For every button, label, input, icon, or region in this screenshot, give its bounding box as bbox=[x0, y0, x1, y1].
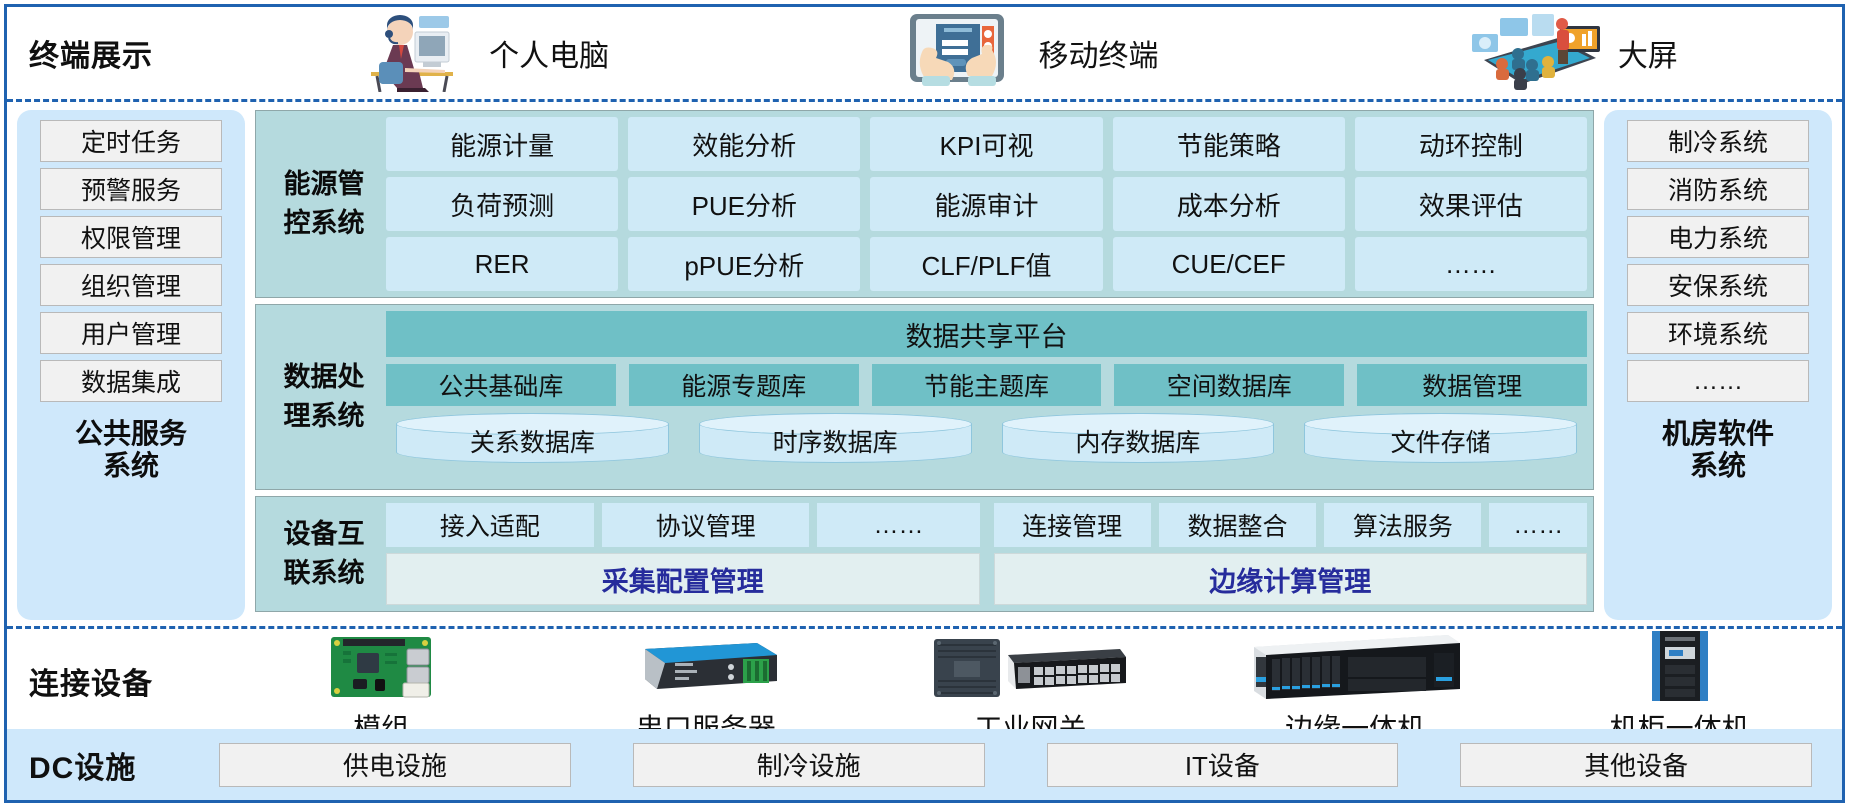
equipment-room-software-system-panel: 制冷系统 消防系统 电力系统 安保系统 环境系统 …… 机房软件 系统 bbox=[1604, 110, 1832, 620]
energy-cell-efficiency-analysis[interactable]: 效能分析 bbox=[628, 117, 860, 171]
title-line-1: 能源管 bbox=[284, 165, 365, 204]
acquisition-chips: 接入适配 协议管理 …… bbox=[386, 503, 980, 547]
serial-server-icon bbox=[631, 633, 781, 706]
tablet-hands-icon bbox=[892, 10, 1022, 97]
terminal-display-row: 终端展示 bbox=[7, 7, 1842, 99]
database-relational[interactable]: 关系数据库 bbox=[396, 413, 669, 463]
dc-chip-cooling[interactable]: 制冷设施 bbox=[633, 743, 985, 787]
title-line-2: 理系统 bbox=[284, 397, 365, 436]
terminal-items: 个人电脑 bbox=[209, 10, 1842, 97]
title-line-2: 系统 bbox=[75, 450, 187, 482]
terminal-label-personal-computer: 个人电脑 bbox=[489, 31, 609, 75]
energy-cell-kpi-visualization[interactable]: KPI可视 bbox=[870, 117, 1102, 171]
sidebar-label: 组织管理 bbox=[81, 267, 181, 303]
edge-chips: 连接管理 数据整合 算法服务 …… bbox=[994, 503, 1588, 547]
device-chip-access-adaptation[interactable]: 接入适配 bbox=[386, 503, 594, 547]
title-line-1: 公共服务 bbox=[75, 418, 187, 450]
energy-cell-rer[interactable]: RER bbox=[386, 237, 618, 291]
sidebar-item-environment-system[interactable]: 环境系统 bbox=[1627, 312, 1809, 354]
energy-cell-energy-metering[interactable]: 能源计量 bbox=[386, 117, 618, 171]
sidebar-label: 用户管理 bbox=[81, 315, 181, 351]
database-label: 内存数据库 bbox=[1075, 417, 1200, 459]
sidebar-item-fire-system[interactable]: 消防系统 bbox=[1627, 168, 1809, 210]
dc-facility-items: 供电设施 制冷设施 IT设备 其他设备 bbox=[219, 743, 1842, 787]
data-store-energy-topic[interactable]: 能源专题库 bbox=[629, 364, 859, 406]
diagram-frame: 终端展示 bbox=[4, 4, 1845, 803]
row-label-terminal: 终端展示 bbox=[29, 31, 209, 75]
data-processing-body: 数据共享平台 公共基础库 能源专题库 节能主题库 空间数据库 数据管理 关系数据… bbox=[386, 311, 1587, 483]
title-line-1: 数据处 bbox=[284, 358, 365, 397]
energy-cell-cue-cef[interactable]: CUE/CEF bbox=[1113, 237, 1345, 291]
device-chip-data-integration[interactable]: 数据整合 bbox=[1159, 503, 1316, 547]
sidebar-label: 权限管理 bbox=[81, 219, 181, 255]
energy-cell-cost-analysis[interactable]: 成本分析 bbox=[1113, 177, 1345, 231]
terminal-item-personal-computer[interactable]: 个人电脑 bbox=[209, 10, 753, 97]
database-label: 时序数据库 bbox=[773, 417, 898, 459]
data-processing-system-block: 数据处 理系统 数据共享平台 公共基础库 能源专题库 节能主题库 空间数据库 数… bbox=[255, 304, 1594, 490]
energy-management-system-title: 能源管 控系统 bbox=[262, 117, 386, 291]
energy-cell-environment-control[interactable]: 动环控制 bbox=[1355, 117, 1587, 171]
terminal-item-large-screen[interactable]: 大屏 bbox=[1298, 10, 1842, 97]
title-line-2: 联系统 bbox=[284, 554, 365, 593]
public-service-system-title: 公共服务 系统 bbox=[75, 418, 187, 482]
energy-row-3: RER pPUE分析 CLF/PLF值 CUE/CEF …… bbox=[386, 237, 1587, 291]
sidebar-label: 安保系统 bbox=[1668, 267, 1768, 303]
energy-row-1: 能源计量 效能分析 KPI可视 节能策略 动环控制 bbox=[386, 117, 1587, 171]
sidebar-item-alert-service[interactable]: 预警服务 bbox=[40, 168, 222, 210]
device-interconnection-system-block: 设备互 联系统 接入适配 协议管理 …… 采集配置管理 bbox=[255, 496, 1594, 612]
data-store-management[interactable]: 数据管理 bbox=[1357, 364, 1587, 406]
sidebar-label: …… bbox=[1693, 367, 1743, 396]
database-row: 关系数据库 时序数据库 内存数据库 文件存储 bbox=[386, 413, 1587, 463]
energy-cell-more[interactable]: …… bbox=[1355, 237, 1587, 291]
title-line-1: 机房软件 bbox=[1662, 418, 1774, 450]
title-line-1: 设备互 bbox=[284, 515, 365, 554]
sidebar-label: 数据集成 bbox=[81, 363, 181, 399]
database-inmemory[interactable]: 内存数据库 bbox=[1002, 413, 1275, 463]
sidebar-label: 预警服务 bbox=[81, 171, 181, 207]
energy-cell-energy-saving-strategy[interactable]: 节能策略 bbox=[1113, 117, 1345, 171]
circuit-board-icon bbox=[329, 633, 433, 706]
database-timeseries[interactable]: 时序数据库 bbox=[699, 413, 972, 463]
sidebar-item-cooling-system[interactable]: 制冷系统 bbox=[1627, 120, 1809, 162]
desktop-user-icon bbox=[353, 10, 473, 97]
sidebar-label: 消防系统 bbox=[1668, 171, 1768, 207]
data-sharing-platform-banner[interactable]: 数据共享平台 bbox=[386, 311, 1587, 357]
equipment-room-software-system-title: 机房软件 系统 bbox=[1662, 418, 1774, 482]
device-chip-connection-management[interactable]: 连接管理 bbox=[994, 503, 1151, 547]
sidebar-item-organization-management[interactable]: 组织管理 bbox=[40, 264, 222, 306]
energy-management-grid: 能源计量 效能分析 KPI可视 节能策略 动环控制 负荷预测 PUE分析 能源审… bbox=[386, 117, 1587, 291]
device-chip-algorithm-service[interactable]: 算法服务 bbox=[1324, 503, 1481, 547]
sidebar-item-more[interactable]: …… bbox=[1627, 360, 1809, 402]
data-store-public-base[interactable]: 公共基础库 bbox=[386, 364, 616, 406]
title-line-2: 控系统 bbox=[284, 204, 365, 243]
edge-computing-column: 连接管理 数据整合 算法服务 …… 边缘计算管理 bbox=[994, 503, 1588, 605]
public-service-system-panel: 定时任务 预警服务 权限管理 组织管理 用户管理 数据集成 公共服务 系统 bbox=[17, 110, 245, 620]
energy-row-2: 负荷预测 PUE分析 能源审计 成本分析 效果评估 bbox=[386, 177, 1587, 231]
device-interconnection-system-title: 设备互 联系统 bbox=[262, 503, 386, 605]
data-store-row: 公共基础库 能源专题库 节能主题库 空间数据库 数据管理 bbox=[386, 364, 1587, 406]
sidebar-item-security-system[interactable]: 安保系统 bbox=[1627, 264, 1809, 306]
sidebar-label: 电力系统 bbox=[1668, 219, 1768, 255]
platform-stack: 能源管 控系统 能源计量 效能分析 KPI可视 节能策略 动环控制 负荷预测 P… bbox=[255, 110, 1594, 620]
terminal-label-mobile-terminal: 移动终端 bbox=[1038, 31, 1158, 75]
sidebar-item-user-management[interactable]: 用户管理 bbox=[40, 312, 222, 354]
platform-main-band: 定时任务 预警服务 权限管理 组织管理 用户管理 数据集成 公共服务 系统 能源… bbox=[7, 102, 1842, 626]
data-store-spatial[interactable]: 空间数据库 bbox=[1114, 364, 1344, 406]
sidebar-item-permission-management[interactable]: 权限管理 bbox=[40, 216, 222, 258]
dc-chip-power-supply[interactable]: 供电设施 bbox=[219, 743, 571, 787]
device-interconnection-columns: 接入适配 协议管理 …… 采集配置管理 连接管理 数据整合 算法服务 bbox=[386, 503, 1587, 605]
terminal-label-large-screen: 大屏 bbox=[1618, 31, 1678, 75]
gateway-switch-icon bbox=[930, 633, 1130, 706]
sidebar-label: 定时任务 bbox=[81, 123, 181, 159]
data-store-saving-topic[interactable]: 节能主题库 bbox=[872, 364, 1102, 406]
device-chip-protocol-management[interactable]: 协议管理 bbox=[602, 503, 810, 547]
energy-management-system-block: 能源管 控系统 能源计量 效能分析 KPI可视 节能策略 动环控制 负荷预测 P… bbox=[255, 110, 1594, 298]
energy-cell-load-forecast[interactable]: 负荷预测 bbox=[386, 177, 618, 231]
dc-chip-it-equipment[interactable]: IT设备 bbox=[1047, 743, 1399, 787]
device-chip-more-left[interactable]: …… bbox=[817, 503, 979, 547]
energy-cell-clf-plf[interactable]: CLF/PLF值 bbox=[870, 237, 1102, 291]
acquisition-column: 接入适配 协议管理 …… 采集配置管理 bbox=[386, 503, 980, 605]
title-line-2: 系统 bbox=[1662, 450, 1774, 482]
device-chip-more-right[interactable]: …… bbox=[1489, 503, 1587, 547]
energy-cell-ppue-analysis[interactable]: pPUE分析 bbox=[628, 237, 860, 291]
row-label-connected-devices: 连接设备 bbox=[29, 659, 219, 703]
sidebar-item-scheduled-task[interactable]: 定时任务 bbox=[40, 120, 222, 162]
sidebar-label: 制冷系统 bbox=[1668, 123, 1768, 159]
energy-cell-effect-evaluation[interactable]: 效果评估 bbox=[1355, 177, 1587, 231]
device-interconnection-body: 接入适配 协议管理 …… 采集配置管理 连接管理 数据整合 算法服务 bbox=[386, 503, 1587, 605]
energy-cell-energy-audit[interactable]: 能源审计 bbox=[870, 177, 1102, 231]
database-label: 文件存储 bbox=[1391, 417, 1491, 459]
dc-chip-other-equipment[interactable]: 其他设备 bbox=[1460, 743, 1812, 787]
energy-cell-pue-analysis[interactable]: PUE分析 bbox=[628, 177, 860, 231]
sidebar-item-data-integration[interactable]: 数据集成 bbox=[40, 360, 222, 402]
rack-server-icon bbox=[1248, 629, 1463, 706]
big-screen-meeting-icon bbox=[1462, 10, 1602, 97]
data-processing-system-title: 数据处 理系统 bbox=[262, 311, 386, 483]
cabinet-icon bbox=[1638, 629, 1722, 706]
edge-computing-management-bar[interactable]: 边缘计算管理 bbox=[994, 553, 1588, 605]
database-label: 关系数据库 bbox=[470, 417, 595, 459]
terminal-item-mobile-terminal[interactable]: 移动终端 bbox=[753, 10, 1297, 97]
dc-facility-row: DC设施 供电设施 制冷设施 IT设备 其他设备 bbox=[7, 729, 1842, 800]
row-label-dc-facility: DC设施 bbox=[29, 743, 219, 787]
sidebar-item-power-system[interactable]: 电力系统 bbox=[1627, 216, 1809, 258]
database-file-storage[interactable]: 文件存储 bbox=[1304, 413, 1577, 463]
connected-devices-row: 连接设备 bbox=[7, 629, 1842, 728]
acquisition-config-management-bar[interactable]: 采集配置管理 bbox=[386, 553, 980, 605]
sidebar-label: 环境系统 bbox=[1668, 315, 1768, 351]
